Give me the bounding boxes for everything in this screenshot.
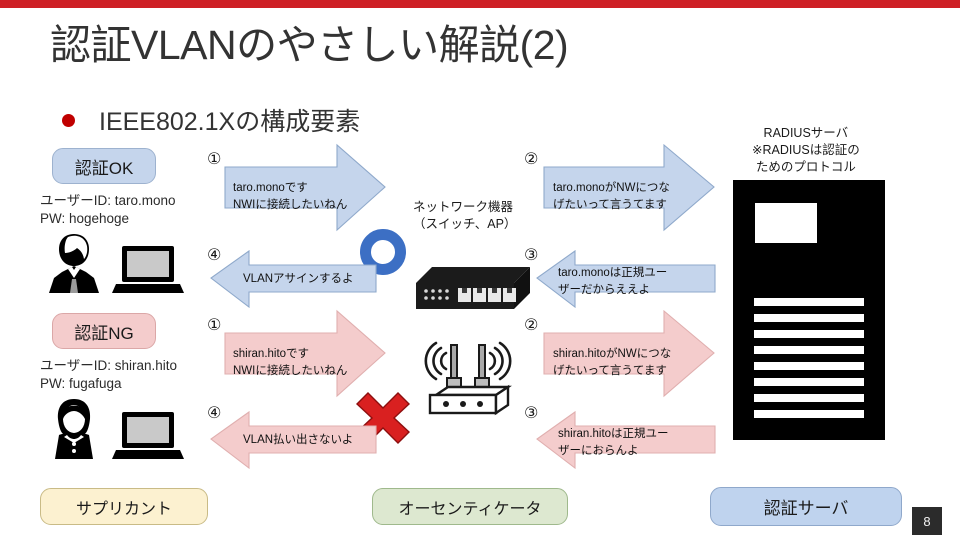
status-badge-auth-ok: 認証OK — [52, 148, 156, 184]
arrow-ok-step1 — [225, 145, 385, 230]
role-label-auth-server: 認証サーバ — [710, 487, 902, 526]
page-title: 認証VLANのやさしい解説(2) — [50, 22, 750, 69]
bullet-row: IEEE802.1Xの構成要素 — [62, 102, 360, 138]
slide-canvas: 認証VLANのやさしい解説(2) IEEE802.1Xの構成要素 認証OK ユー… — [0, 0, 960, 540]
arrow-ok-step2 — [544, 145, 714, 230]
arrow-ng-step3 — [537, 412, 715, 468]
step-number-ok-1: ① — [207, 149, 221, 169]
step-number-ng-4: ④ — [207, 403, 221, 423]
arrow-ng-step2 — [544, 311, 714, 396]
page-number: 8 — [912, 507, 942, 535]
user-woman-icon — [42, 398, 106, 465]
step-number-ok-2: ② — [524, 149, 538, 169]
user-man-icon — [42, 232, 106, 299]
wireless-access-point-icon — [420, 333, 516, 426]
step-number-ok-4: ④ — [207, 245, 221, 265]
role-label-authenticator: オーセンティケータ — [372, 488, 568, 525]
step-number-ng-3: ③ — [524, 403, 538, 423]
bullet-text: IEEE802.1Xの構成要素 — [99, 102, 360, 138]
credentials-ng: ユーザーID: shiran.hito PW: fugafuga — [40, 357, 177, 393]
top-accent-bar — [0, 0, 960, 8]
credentials-ok: ユーザーID: taro.mono PW: hogehoge — [40, 192, 176, 228]
arrow-ok-step4 — [211, 251, 376, 307]
server-display-panel — [755, 203, 817, 243]
bullet-dot-icon — [62, 114, 75, 127]
caption-network-device: ネットワーク機器 （スイッチ、AP） — [413, 199, 516, 233]
step-number-ok-3: ③ — [524, 245, 538, 265]
laptop-icon — [112, 244, 184, 301]
caption-radius-server: RADIUSサーバ ※RADIUSは認証の ためのプロトコル — [752, 125, 860, 176]
server-rack-icon — [733, 180, 885, 440]
laptop-icon — [112, 410, 184, 467]
arrow-ok-step3 — [537, 251, 715, 307]
network-switch-icon — [414, 265, 532, 318]
step-number-ng-1: ① — [207, 315, 221, 335]
arrow-ng-step4 — [211, 412, 376, 468]
status-badge-auth-ng: 認証NG — [52, 313, 156, 349]
arrow-ng-step1 — [225, 311, 385, 396]
step-number-ng-2: ② — [524, 315, 538, 335]
role-label-supplicant: サプリカント — [40, 488, 208, 525]
